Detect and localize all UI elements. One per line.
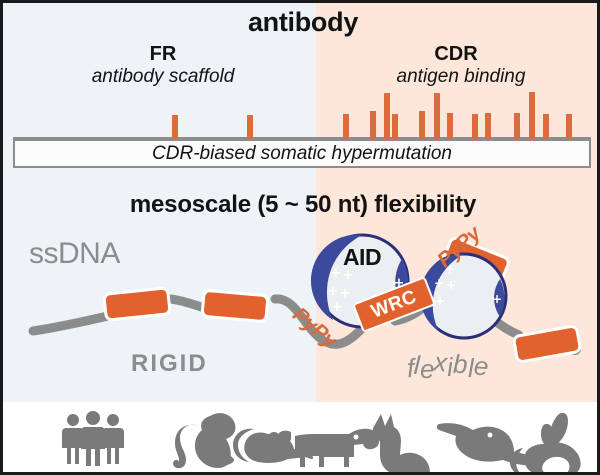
rigid-label: RIGID — [131, 350, 208, 378]
mutation-bar — [392, 114, 398, 139]
mutation-bar — [472, 114, 478, 139]
mutation-bar — [485, 113, 491, 139]
rigid-block-1 — [104, 288, 170, 321]
charge-plus-icon: + — [340, 286, 351, 301]
mutation-bar — [419, 111, 425, 139]
mutation-bar — [384, 93, 390, 139]
charge-plus-icon: + — [332, 300, 343, 315]
mutation-bar — [447, 113, 453, 139]
mutation-bar — [247, 115, 253, 139]
cdr-region-subtitle: antigen binding — [341, 66, 581, 88]
fr-region-subtitle: antibody scaffold — [48, 66, 278, 88]
mutation-bar — [434, 93, 440, 139]
human-trio-icon — [62, 411, 124, 466]
aid-enzyme-label: AID — [329, 244, 395, 271]
charge-plus-icon: + — [492, 292, 502, 306]
aid-enzyme-circle-secondary: + + + + + — [420, 254, 506, 338]
figure-title: antibody — [3, 7, 600, 38]
rigid-block-4 — [513, 326, 581, 363]
mutation-bar — [514, 113, 520, 139]
cdr-region-title: CDR — [391, 43, 521, 66]
mesoscale-heading: mesoscale (5 ~ 50 nt) flexibility — [3, 191, 600, 219]
mutation-bar — [543, 114, 549, 139]
flexible-label: flexible — [407, 351, 488, 382]
species-silhouette-strip — [3, 402, 600, 475]
mutation-bar — [172, 115, 178, 139]
fr-region-title: FR — [93, 43, 233, 66]
charge-plus-icon: + — [435, 294, 445, 308]
ssdna-label: ssDNA — [29, 237, 120, 271]
charge-plus-icon: + — [434, 276, 444, 290]
shm-caption-box: CDR-biased somatic hypermutation — [13, 139, 591, 168]
rabbit-icon — [510, 413, 581, 475]
monkey-icon — [173, 413, 235, 468]
llama-icon — [373, 414, 430, 475]
mutation-bar — [370, 111, 376, 139]
graphical-abstract-figure: antibody FR antibody scaffold CDR antige… — [0, 0, 600, 475]
charge-plus-icon: + — [446, 278, 456, 292]
mutation-bar — [566, 114, 572, 139]
mutation-frequency-plot — [3, 89, 600, 139]
mutation-bar — [529, 92, 535, 139]
shm-caption-label: CDR-biased somatic hypermutation — [152, 143, 452, 165]
rigid-block-2 — [202, 290, 268, 321]
charge-plus-icon: + — [328, 284, 339, 299]
mutation-bar — [343, 114, 349, 139]
